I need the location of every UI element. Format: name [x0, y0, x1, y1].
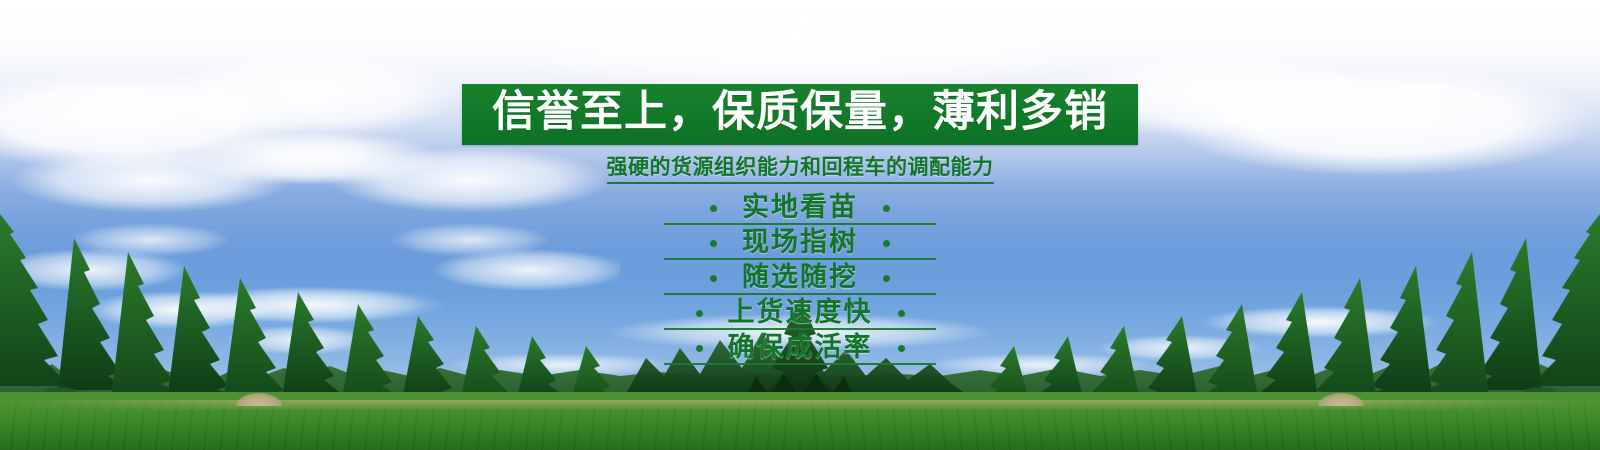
bullet-dot-icon [883, 240, 890, 247]
banner-content: 信誉至上，保质保量，薄利多销 强硬的货源组织能力和回程车的调配能力 实地看苗 现… [0, 0, 1600, 365]
bullet-dot-icon [710, 205, 717, 212]
feature-label: 随选随挖 [742, 260, 858, 295]
feature-list: 实地看苗 现场指树 随选随挖 [0, 190, 1600, 365]
subtitle-text: 强硬的货源组织能力和回程车的调配能力 [607, 154, 994, 184]
headline-bar: 信誉至上，保质保量，薄利多销 [462, 84, 1138, 145]
feature-inner: 现场指树 [702, 225, 898, 260]
bullet-dot-icon [883, 205, 890, 212]
headline-text: 信誉至上，保质保量，薄利多销 [492, 89, 1108, 136]
feature-inner: 上货速度快 [688, 295, 913, 330]
feature-underline [664, 363, 936, 365]
feature-inner: 确保成活率 [688, 330, 913, 365]
bullet-dot-icon [710, 240, 717, 247]
feature-inner: 实地看苗 [702, 190, 898, 225]
feature-inner: 随选随挖 [702, 260, 898, 295]
feature-label: 确保成活率 [728, 330, 873, 365]
promo-banner: 信誉至上，保质保量，薄利多销 强硬的货源组织能力和回程车的调配能力 实地看苗 现… [0, 0, 1600, 450]
list-item: 现场指树 [0, 225, 1600, 260]
list-item: 上货速度快 [0, 295, 1600, 330]
bullet-dot-icon [696, 310, 703, 317]
feature-label: 现场指树 [742, 225, 858, 260]
bullet-dot-icon [710, 275, 717, 282]
bullet-dot-icon [696, 345, 703, 352]
list-item: 实地看苗 [0, 190, 1600, 225]
feature-label: 实地看苗 [742, 190, 858, 225]
feature-label: 上货速度快 [728, 295, 873, 330]
list-item: 确保成活率 [0, 330, 1600, 365]
list-item: 随选随挖 [0, 260, 1600, 295]
bullet-dot-icon [883, 275, 890, 282]
bullet-dot-icon [898, 310, 905, 317]
bullet-dot-icon [898, 345, 905, 352]
